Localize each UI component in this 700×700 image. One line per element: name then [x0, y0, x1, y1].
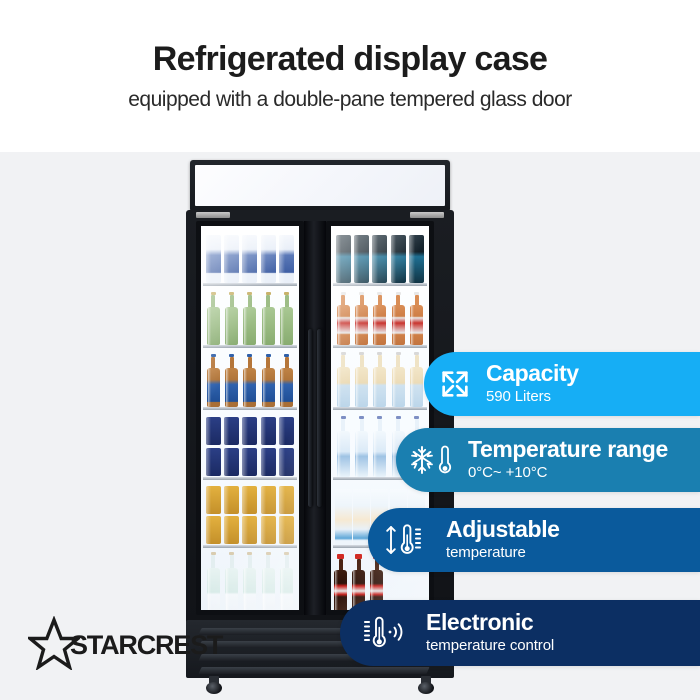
beverage-can	[261, 235, 276, 283]
glass-bottle	[207, 292, 220, 345]
beverage-can	[224, 235, 239, 283]
dairy-carton	[335, 489, 352, 545]
up-down-arrows-thermometer-icon	[368, 521, 446, 559]
caster-wheel	[206, 676, 222, 694]
beverage-can	[206, 516, 221, 544]
beverage-can	[279, 235, 294, 283]
shelf	[201, 286, 299, 348]
page-title: Refrigerated display case	[0, 40, 700, 79]
sake-bottle	[207, 552, 220, 610]
cream-soda-bottle	[355, 352, 368, 407]
door-hinge-left	[196, 212, 230, 218]
badge-subtitle: temperature control	[426, 636, 554, 656]
badge-subtitle: temperature	[446, 543, 560, 563]
badge-subtitle: 0°C~ +10°C	[468, 463, 668, 483]
feature-badge-adjustable: Adjustable temperature	[368, 508, 700, 572]
sake-bottle	[262, 552, 275, 610]
cream-soda-bottle	[337, 352, 350, 407]
product-row	[204, 415, 296, 445]
cola-bottle	[334, 554, 347, 610]
energy-drink-can	[354, 235, 369, 283]
caster-wheel	[418, 676, 434, 694]
energy-drink-can	[336, 235, 351, 283]
beverage-can	[242, 448, 257, 476]
product-row	[334, 289, 426, 345]
beverage-can	[206, 448, 221, 476]
snowflake-thermometer-icon	[396, 442, 468, 478]
energy-drink-can	[409, 235, 424, 283]
canopy-panel	[195, 165, 445, 206]
product-row	[204, 552, 296, 610]
beverage-can	[261, 486, 276, 514]
juice-bottle	[392, 292, 405, 345]
center-mullion	[304, 221, 326, 615]
beer-bottle	[280, 354, 293, 407]
beverage-can	[261, 417, 276, 445]
product-infographic: Refrigerated display case equipped with …	[0, 0, 700, 700]
badge-text: Temperature range 0°C~ +10°C	[468, 437, 668, 482]
glass-bottle	[243, 292, 256, 345]
beverage-can	[224, 417, 239, 445]
beverage-can	[279, 417, 294, 445]
glass-bottle	[262, 292, 275, 345]
shelf	[331, 228, 429, 286]
feature-badge-electronic: Electronic temperature control	[340, 600, 700, 666]
product-row	[204, 484, 296, 514]
energy-drink-can	[391, 235, 406, 283]
beverage-can	[242, 486, 257, 514]
badge-title: Adjustable	[446, 517, 560, 543]
door-handle-left[interactable]	[308, 329, 313, 507]
sake-bottle	[243, 552, 256, 610]
beer-bottle	[262, 354, 275, 407]
badge-title: Temperature range	[468, 437, 668, 463]
beverage-can	[206, 417, 221, 445]
beverage-can	[242, 235, 257, 283]
glass-bottle	[225, 292, 238, 345]
juice-bottle	[355, 292, 368, 345]
glass-bottle	[280, 292, 293, 345]
water-bottle	[373, 416, 386, 477]
shelf	[201, 228, 299, 286]
badge-text: Adjustable temperature	[446, 517, 560, 562]
beverage-can	[224, 448, 239, 476]
beverage-can	[261, 516, 276, 544]
juice-bottle	[337, 292, 350, 345]
shelf	[331, 348, 429, 410]
shelf	[201, 548, 299, 610]
cream-soda-bottle	[410, 352, 423, 407]
shelf	[201, 348, 299, 410]
product-row	[204, 446, 296, 476]
product-row	[204, 351, 296, 407]
juice-bottle	[373, 292, 386, 345]
beverage-can	[206, 486, 221, 514]
brand-name: STARCREST	[70, 630, 222, 661]
canopy-lightbox	[190, 160, 450, 212]
expand-arrows-icon	[424, 367, 486, 401]
glass-door-left[interactable]	[196, 221, 304, 615]
page-subtitle: equipped with a double-pane tempered gla…	[0, 88, 700, 112]
badge-title: Electronic	[426, 610, 554, 636]
sake-bottle	[225, 552, 238, 610]
product-row	[334, 351, 426, 407]
water-bottle	[355, 416, 368, 477]
glass-pane-left	[201, 226, 299, 610]
beverage-can	[224, 516, 239, 544]
beer-bottle	[225, 354, 238, 407]
door-hinge-right	[410, 212, 444, 218]
cream-soda-bottle	[392, 352, 405, 407]
product-row	[204, 514, 296, 544]
thermometer-signal-icon	[340, 613, 426, 653]
beverage-can	[242, 516, 257, 544]
sake-bottle	[280, 552, 293, 610]
vent-louver	[198, 667, 429, 674]
badge-subtitle: 590 Liters	[486, 387, 579, 407]
brand-logo: STARCREST	[28, 616, 222, 675]
header-band: Refrigerated display case equipped with …	[0, 0, 700, 152]
product-row	[204, 289, 296, 345]
water-bottle	[337, 416, 350, 477]
beverage-can	[242, 417, 257, 445]
feature-badge-capacity: Capacity 590 Liters	[424, 352, 700, 416]
badge-title: Capacity	[486, 361, 579, 387]
beverage-can	[279, 516, 294, 544]
shelf	[201, 410, 299, 480]
beer-bottle	[207, 354, 220, 407]
beverage-can	[224, 486, 239, 514]
shelf	[331, 286, 429, 348]
beverage-can	[261, 448, 276, 476]
product-row	[204, 233, 296, 283]
product-row	[334, 233, 426, 283]
beverage-can	[279, 486, 294, 514]
door-handle-right[interactable]	[317, 329, 322, 507]
badge-text: Electronic temperature control	[426, 610, 554, 655]
beverage-can	[279, 448, 294, 476]
beer-bottle	[243, 354, 256, 407]
cream-soda-bottle	[373, 352, 386, 407]
juice-bottle	[410, 292, 423, 345]
badge-text: Capacity 590 Liters	[486, 361, 579, 406]
feature-badge-temperature-range: Temperature range 0°C~ +10°C	[396, 428, 700, 492]
energy-drink-can	[372, 235, 387, 283]
beverage-can	[206, 235, 221, 283]
shelf	[201, 480, 299, 548]
